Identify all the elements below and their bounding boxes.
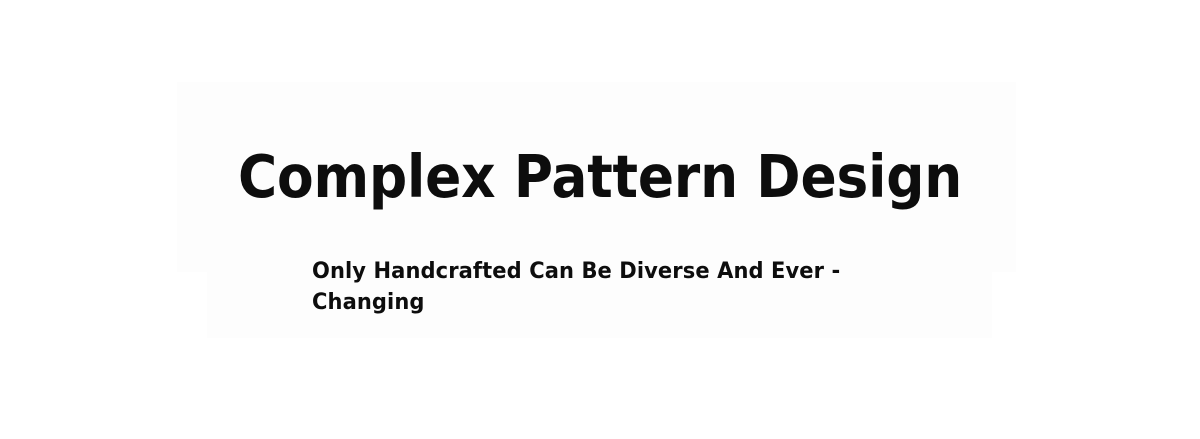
slide-subtitle: Only Handcrafted Can Be Diverse And Ever… [312, 256, 866, 318]
subtitle-container: Only Handcrafted Can Be Diverse And Ever… [312, 256, 892, 318]
title-container: Complex Pattern Design [0, 144, 1200, 210]
slide-title: Complex Pattern Design [238, 144, 962, 210]
slide-canvas: Complex Pattern Design Only Handcrafted … [0, 0, 1200, 439]
